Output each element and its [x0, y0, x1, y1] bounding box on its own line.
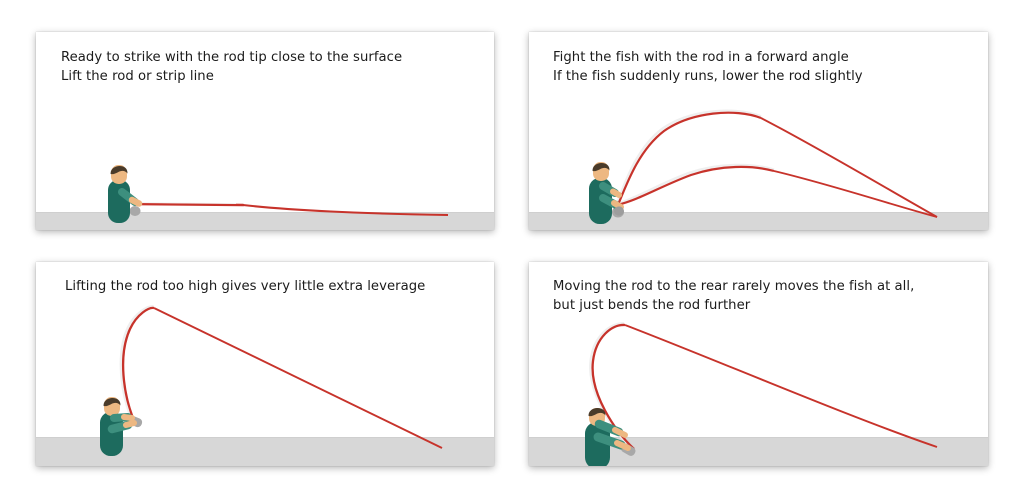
fishing-rod-high-highlight [617, 111, 761, 204]
body [108, 180, 130, 223]
fishing-rod-high [618, 113, 761, 205]
fishing-line-low [774, 171, 937, 217]
fishing-rod-low [617, 167, 774, 205]
panel-1-illustration [36, 32, 494, 230]
fishing-line [625, 325, 937, 447]
panel-lifting-rod-too-high: Lifting the rod too high gives very litt… [36, 262, 494, 466]
fishing-line-high [761, 118, 937, 217]
reel [130, 206, 141, 216]
hand [132, 200, 139, 204]
fishing-line [154, 308, 442, 448]
panel-fight-the-fish: Fight the fish with the rod in a forward… [529, 32, 988, 230]
hand-upper [124, 417, 132, 418]
angler-figure [589, 162, 624, 224]
panel-2-illustration [529, 32, 988, 230]
panel-moving-rod-to-rear: Moving the rod to the rear rarely moves … [529, 262, 988, 466]
ground-edge-line [36, 212, 494, 213]
reel-front [614, 206, 624, 215]
panel-4-illustration [529, 262, 988, 466]
instruction-panel-grid: Ready to strike with the rod tip close t… [0, 0, 1024, 504]
fishing-rod-low-highlight [617, 165, 774, 204]
fishing-rod [134, 204, 243, 205]
hand-lower [126, 423, 134, 425]
hand-lower [614, 203, 621, 207]
rod-highlight [121, 307, 153, 422]
panel-3-illustration [36, 262, 494, 466]
hand-upper [613, 192, 619, 196]
angler-figure [108, 165, 141, 223]
panel-ready-to-strike: Ready to strike with the rod tip close t… [36, 32, 494, 230]
